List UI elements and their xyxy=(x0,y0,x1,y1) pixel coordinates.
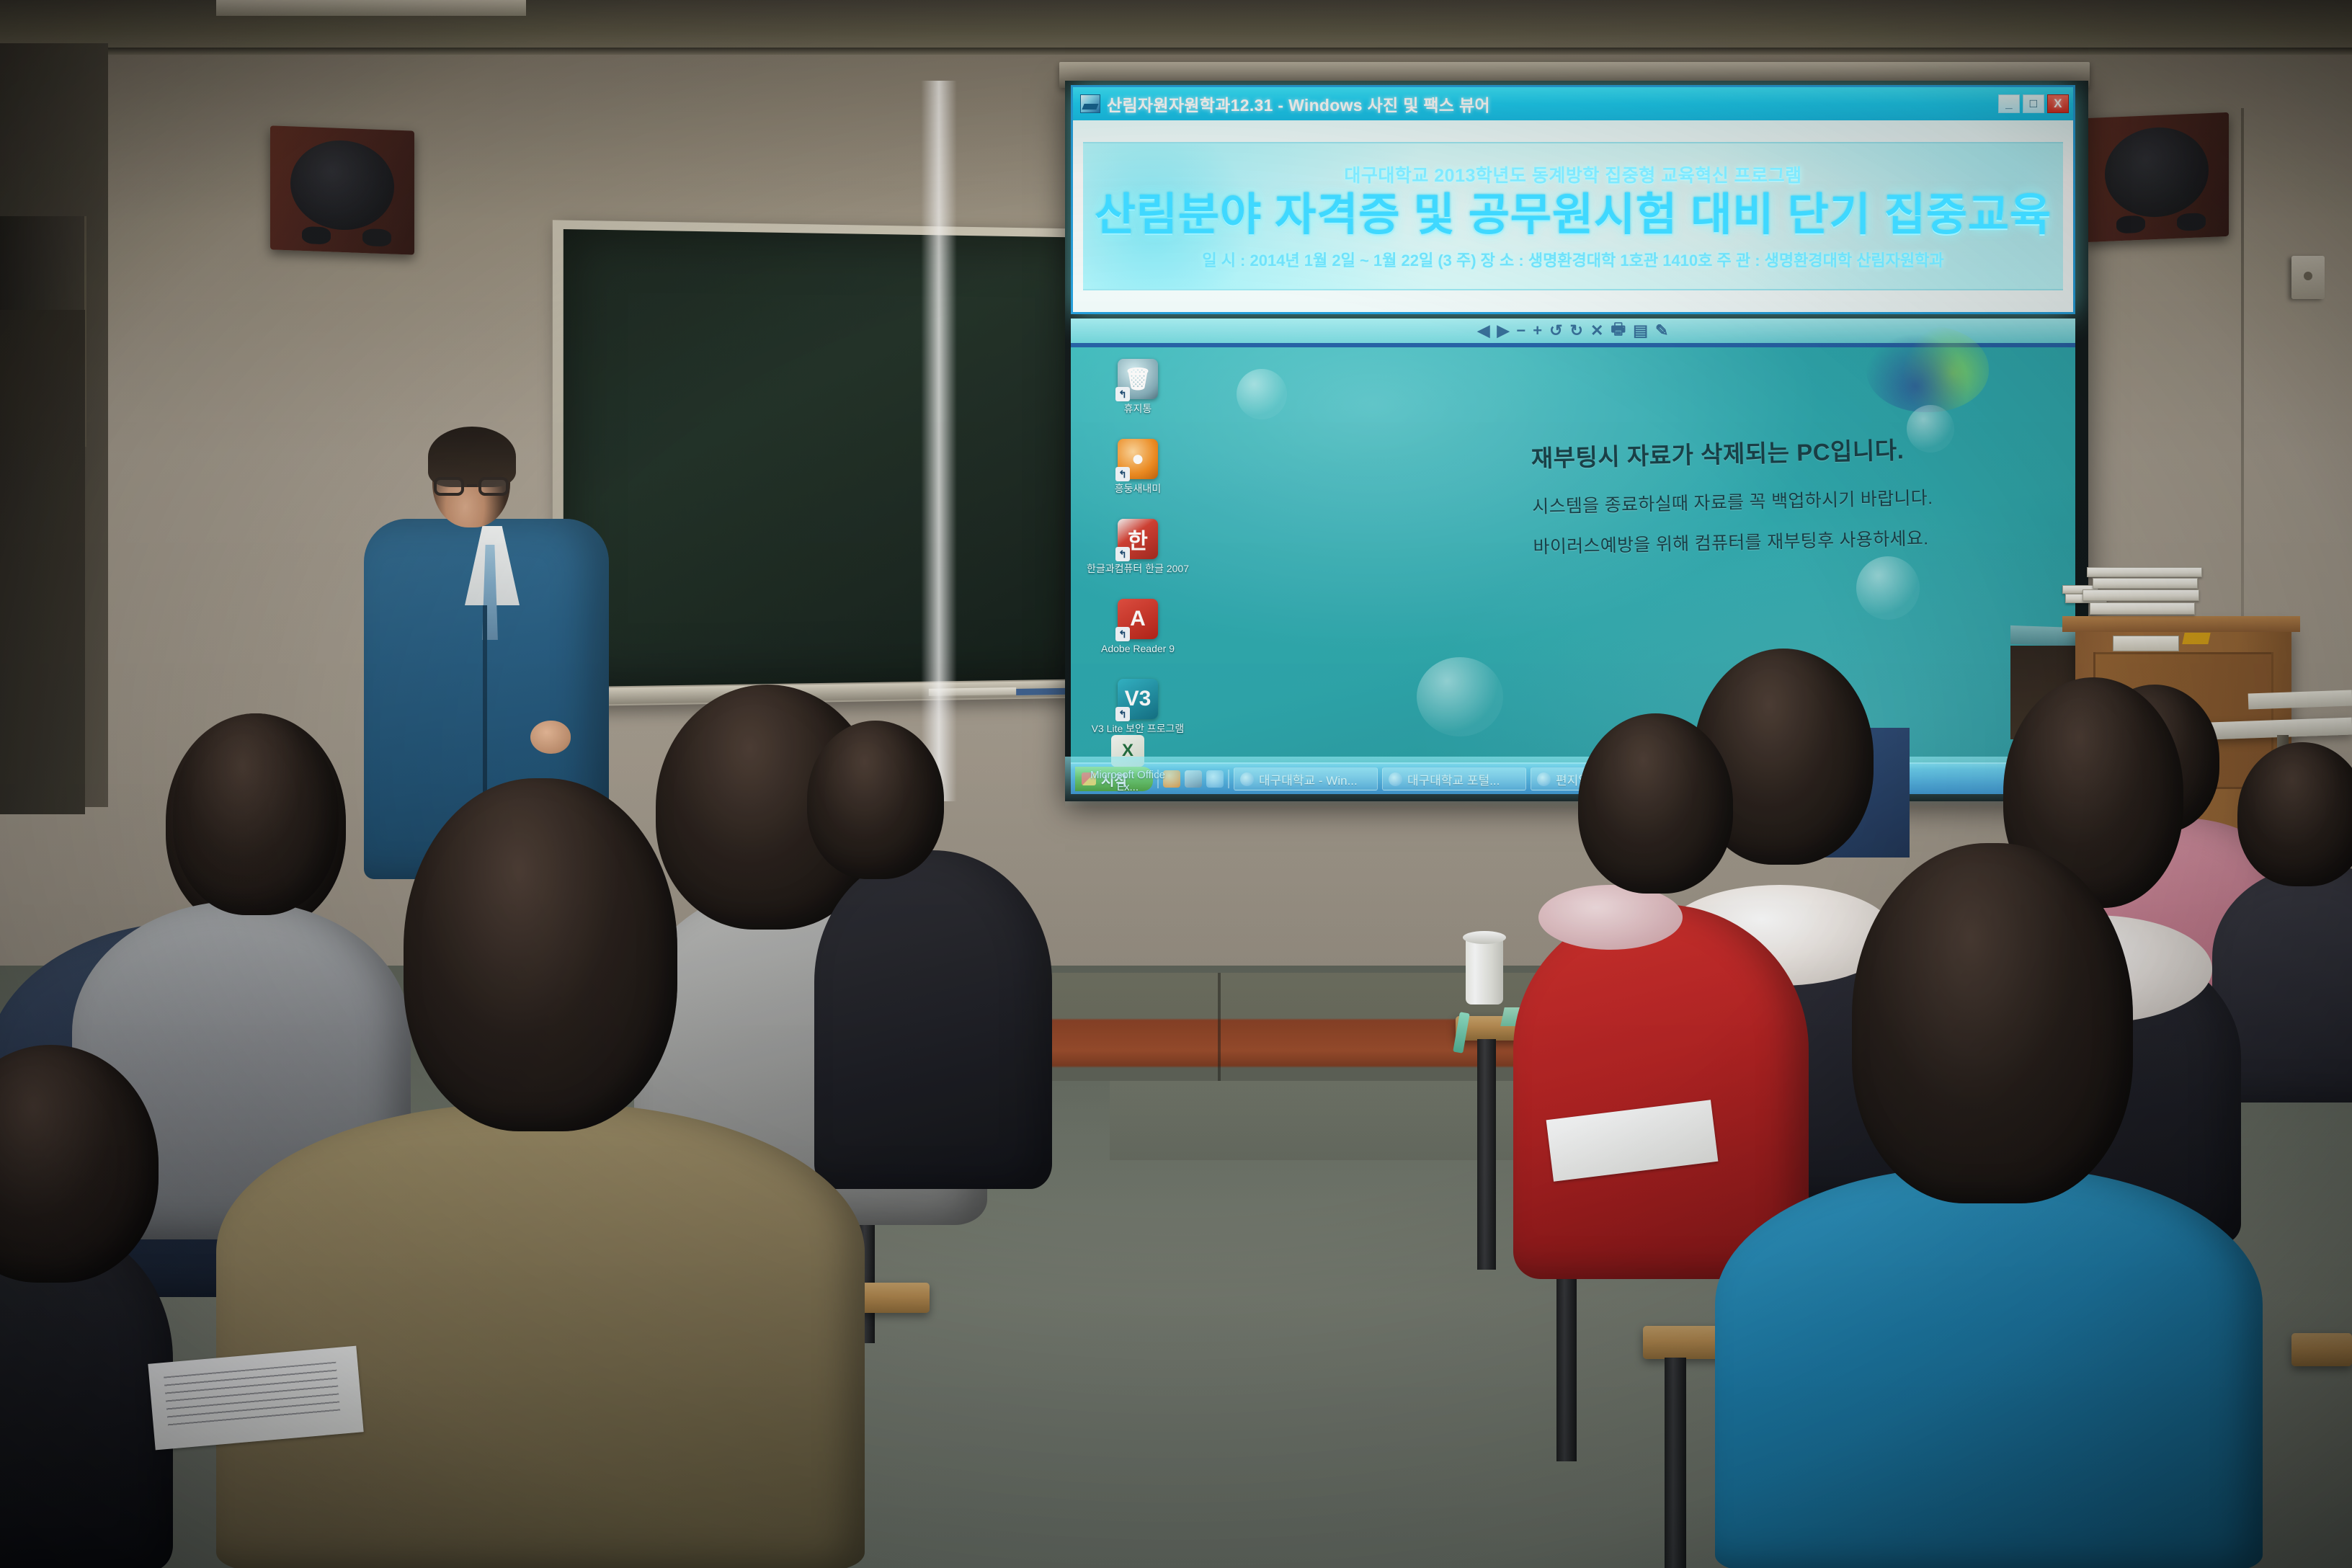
desktop-icon-label: Adobe Reader 9 xyxy=(1084,643,1192,654)
windows-taskbar[interactable]: 시작 대구대학교 - Win... 대구대학교 포털... 편지읽기 - 교 xyxy=(1071,762,2075,794)
rotate-left-icon[interactable]: ↺ xyxy=(1549,321,1562,340)
left-wall-door[interactable] xyxy=(0,310,85,814)
print-icon[interactable]: 🖶 xyxy=(1611,318,1626,344)
chalk-piece[interactable] xyxy=(929,687,1016,696)
edit-icon[interactable]: ✎ xyxy=(1655,321,1668,340)
banner-title: 산림분야 자격증 및 공무원시험 대비 단기 집중교육 xyxy=(1095,192,2052,239)
zoom-in-icon[interactable]: + xyxy=(1533,321,1542,340)
desktop-icon-label: 한글과컴퓨터 한글 2007 xyxy=(1084,563,1192,574)
banner-subtitle: 대구대학교 2013학년도 동계방학 집중형 교육혁신 프로그램 xyxy=(1344,161,1801,187)
desktop-icon-recycle-bin[interactable]: 🗑 휴지통 xyxy=(1084,359,1192,414)
quicklaunch-media-icon[interactable] xyxy=(1185,770,1202,788)
maximize-button[interactable]: □ xyxy=(2023,94,2044,113)
ie-icon xyxy=(1389,772,1402,786)
glasses-bridge xyxy=(467,484,477,487)
wallpaper-bubble xyxy=(1417,657,1503,736)
desktop-icon-excel[interactable]: X Microsoft Office Ex... xyxy=(1081,735,1175,797)
student-head xyxy=(173,713,339,915)
orange-app-icon: ● xyxy=(1118,439,1158,479)
glasses-lens-left xyxy=(434,477,464,496)
save-icon[interactable]: ▤ xyxy=(1633,321,1648,340)
desktop-icon-hangul[interactable]: 한 한글과컴퓨터 한글 2007 xyxy=(1084,519,1192,574)
student-torso xyxy=(216,1102,865,1568)
quicklaunch-ie-icon[interactable] xyxy=(1206,770,1224,788)
desktop-icon-label: V3 Lite 보안 프로그램 xyxy=(1084,723,1192,734)
student-head xyxy=(1852,843,2133,1203)
lectern-sticker xyxy=(2182,633,2210,644)
hangul-2007-icon: 한 xyxy=(1118,519,1158,559)
desk-leg xyxy=(1477,1039,1496,1270)
ceiling-panel xyxy=(216,0,526,16)
desktop-icon-label: Microsoft Office Ex... xyxy=(1081,770,1175,793)
prev-icon[interactable]: ◀ xyxy=(1478,321,1490,340)
banner-footer: 일 시 : 2014년 1월 2일 ~ 1월 22일 (3 주) 장 소 : 생… xyxy=(1202,248,1943,271)
minimize-icon: _ xyxy=(1999,95,2019,112)
ie-icon xyxy=(1240,772,1254,786)
ms-office-excel-icon: X xyxy=(1111,735,1144,767)
taskbar-item-daegu-univ[interactable]: 대구대학교 - Win... xyxy=(1234,767,1378,790)
paper-cup-rim xyxy=(1463,931,1506,944)
rotate-right-icon[interactable]: ↻ xyxy=(1570,321,1583,340)
student-head xyxy=(404,778,677,1131)
desktop-icon-label: 휴지통 xyxy=(1084,403,1192,414)
desktop-icon-adobe-reader[interactable]: A Adobe Reader 9 xyxy=(1084,599,1192,654)
viewer-titlebar[interactable]: 산림자원자원학과12.31 - Windows 사진 및 팩스 뷰어 _ □ X xyxy=(1073,87,2073,120)
glasses-lens-right xyxy=(478,477,509,496)
speaker-cone-icon xyxy=(2105,125,2209,219)
desktop-notice: 재부팅시 자료가 삭제되는 PC입니다. 시스템을 종료하실때 자료를 꼭 백업… xyxy=(1531,428,2031,559)
photo-viewer-window[interactable]: 산림자원자원학과12.31 - Windows 사진 및 팩스 뷰어 _ □ X… xyxy=(1071,85,2075,314)
speaker-tweeter-icon xyxy=(2116,215,2145,233)
zoom-out-icon[interactable]: − xyxy=(1516,321,1525,340)
viewer-window-title: 산림자원자원학과12.31 - Windows 사진 및 팩스 뷰어 xyxy=(1107,92,1998,116)
student-torso xyxy=(1715,1167,2263,1568)
book-stack-item xyxy=(2090,602,2195,615)
recycle-bin-icon: 🗑 xyxy=(1118,359,1158,399)
program-banner: 대구대학교 2013학년도 동계방학 집중형 교육혁신 프로그램 산림분야 자격… xyxy=(1083,142,2063,290)
speaker-cone-icon xyxy=(290,139,394,232)
taskbar-item-daegu-portal[interactable]: 대구대학교 포털... xyxy=(1382,767,1526,790)
v3-antivirus-icon: V3 xyxy=(1118,679,1158,719)
maximize-icon: □ xyxy=(2023,95,2044,112)
student-head xyxy=(807,721,944,879)
speaker-port-icon xyxy=(2177,213,2206,231)
wall-outlet[interactable] xyxy=(2291,256,2325,299)
chalkboard xyxy=(553,220,1102,706)
desk-leg xyxy=(1665,1358,1686,1568)
projector-screen: 산림자원자원학과12.31 - Windows 사진 및 팩스 뷰어 _ □ X… xyxy=(1065,81,2088,801)
desk-arm xyxy=(2291,1333,2352,1366)
desktop-icon-list[interactable]: 🗑 휴지통 ● 흥둥새내미 한 한글과컴퓨터 한글 2007 A Adobe R… xyxy=(1084,359,1192,759)
student-head xyxy=(1578,713,1733,894)
lectern-top xyxy=(2062,616,2300,632)
windows-desktop[interactable]: ◀ ▶ − + ↺ ↻ ✕ 🖶 ▤ ✎ 🗑 휴지통 xyxy=(1071,318,2075,794)
glasses-icon xyxy=(434,477,509,496)
wallpaper-bubble xyxy=(1856,556,1920,620)
window-controls[interactable]: _ □ X xyxy=(1998,94,2069,113)
outlet-screw-icon xyxy=(2304,272,2312,280)
taskbar-item-label: 대구대학교 포털... xyxy=(1407,770,1500,788)
notice-line-2: 시스템을 종료하실때 자료를 꼭 백업하시기 바랍니다. xyxy=(1532,481,2030,519)
student-torso xyxy=(814,850,1052,1189)
delete-icon[interactable]: ✕ xyxy=(1590,321,1603,340)
speaker-tweeter-icon xyxy=(302,226,331,245)
next-icon[interactable]: ▶ xyxy=(1497,321,1509,340)
instructor-hand xyxy=(530,721,571,754)
speaker-port-icon xyxy=(362,228,391,247)
viewer-image-area: 대구대학교 2013학년도 동계방학 집중형 교육혁신 프로그램 산림분야 자격… xyxy=(1073,120,2073,312)
book-stack-item xyxy=(2087,567,2202,577)
book-stack-item xyxy=(2093,578,2198,589)
wallpaper-decoration xyxy=(1866,326,1989,412)
paper-cup[interactable] xyxy=(1466,937,1503,1004)
taskbar-separator xyxy=(1228,770,1229,788)
close-button[interactable]: X xyxy=(2047,94,2069,113)
chalkboard-surface xyxy=(563,229,1095,687)
close-icon: X xyxy=(2048,95,2068,112)
desktop-icon-label: 흥둥새내미 xyxy=(1084,483,1192,494)
notice-line-3: 바이러스예방을 위해 컴퓨터를 재부팅후 사용하세요. xyxy=(1533,522,2031,559)
wall-speaker-left xyxy=(270,125,414,254)
ceiling-trim xyxy=(0,48,2352,55)
classroom-scene: 산림자원자원학과12.31 - Windows 사진 및 팩스 뷰어 _ □ X… xyxy=(0,0,2352,1568)
wallpaper-bubble xyxy=(1237,369,1287,419)
book-stack-item xyxy=(2082,589,2199,601)
notice-line-1: 재부팅시 자료가 삭제되는 PC입니다. xyxy=(1531,428,2028,474)
photo-fax-viewer-icon xyxy=(1080,94,1100,113)
platform-seam xyxy=(1218,973,1221,1081)
lectern-label xyxy=(2113,636,2179,651)
hood-trim xyxy=(1538,885,1683,950)
ie-icon xyxy=(1537,772,1551,786)
wall-speaker-right xyxy=(2085,112,2229,242)
desktop-icon-orange-app[interactable]: ● 흥둥새내미 xyxy=(1084,439,1192,494)
desktop-icon-v3[interactable]: V3 V3 Lite 보안 프로그램 xyxy=(1084,679,1192,734)
adobe-reader-icon: A xyxy=(1118,599,1158,639)
taskbar-item-label: 대구대학교 - Win... xyxy=(1259,770,1358,788)
minimize-button[interactable]: _ xyxy=(1998,94,2020,113)
